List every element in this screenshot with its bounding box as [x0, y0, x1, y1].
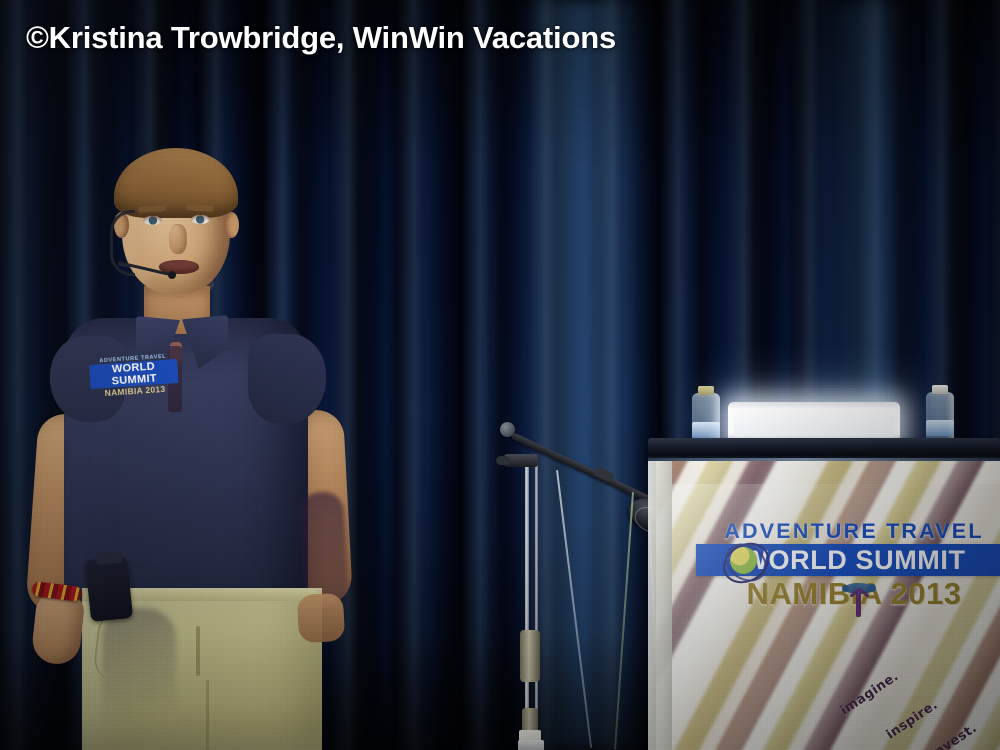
- water-bottle-right-cap: [932, 385, 948, 394]
- speaker-right-ear: [224, 212, 239, 238]
- lectern-tagline: imagine. inspire. invest.: [838, 657, 1000, 750]
- trouser-fly-seam: [196, 626, 200, 676]
- acacia-tree-trunk: [856, 593, 861, 617]
- trouser-crease: [206, 680, 209, 750]
- acacia-tree-leaf-left: [842, 585, 849, 592]
- speaker-left-eye: [143, 216, 162, 225]
- lectern-left-edge: [648, 461, 672, 750]
- speaker-nose: [169, 224, 187, 254]
- speaker-right-eye: [191, 215, 210, 224]
- tagline-word-imagine: imagine.: [838, 669, 902, 719]
- tagline-word-inspire: inspire.: [884, 698, 941, 743]
- banner-line-adventure-travel: ADVENTURE TRAVEL: [696, 519, 1000, 543]
- copyright-watermark: ©Kristina Trowbridge, WinWin Vacations: [26, 20, 616, 56]
- mic-clamp-knob: [496, 456, 510, 465]
- speaker-hair: [114, 148, 238, 218]
- mic-boom-counterweight: [500, 422, 515, 437]
- shirt-logo-patch: ADVENTURE TRAVEL WORLD SUMMIT NAMIBIA 20…: [89, 351, 180, 401]
- laptop-screen: [734, 408, 894, 438]
- conference-stage-photo: ADVENTURE TRAVEL WORLD SUMMIT NAMIBIA 20…: [0, 0, 1000, 750]
- banner-world-summit-bar: WORLD SUMMIT: [696, 544, 1000, 576]
- banner-line-world-summit: WORLD SUMMIT: [742, 545, 965, 575]
- belt-transmitter-pack: [85, 556, 133, 622]
- speaker-chin: [144, 270, 214, 298]
- speaker-right-hand-in-pocket: [297, 593, 345, 643]
- mic-stand-height-collar: [520, 630, 540, 682]
- speaker-right-shoulder: [248, 334, 326, 424]
- headset-microphone-capsule: [168, 271, 176, 279]
- water-bottle-right-label: [926, 420, 954, 436]
- water-bottle-left-cap: [698, 386, 714, 395]
- acacia-tree-leaf-right: [868, 584, 876, 592]
- speaker-left-hand: [30, 590, 85, 667]
- speaker-figure: ADVENTURE TRAVEL WORLD SUMMIT NAMIBIA 20…: [10, 140, 370, 750]
- lectern-front-panel: ADVENTURE TRAVEL WORLD SUMMIT NAMIBIA 20…: [656, 461, 1000, 750]
- acacia-tree-icon: [842, 581, 876, 617]
- mic-stand-base: [518, 740, 544, 750]
- water-bottle-left-label: [692, 422, 720, 438]
- tagline-word-invest: invest.: [928, 721, 980, 750]
- branded-lectern: ADVENTURE TRAVEL WORLD SUMMIT NAMIBIA 20…: [648, 438, 1000, 750]
- summit-logo-banner: ADVENTURE TRAVEL WORLD SUMMIT NAMIBIA 20…: [696, 519, 1000, 611]
